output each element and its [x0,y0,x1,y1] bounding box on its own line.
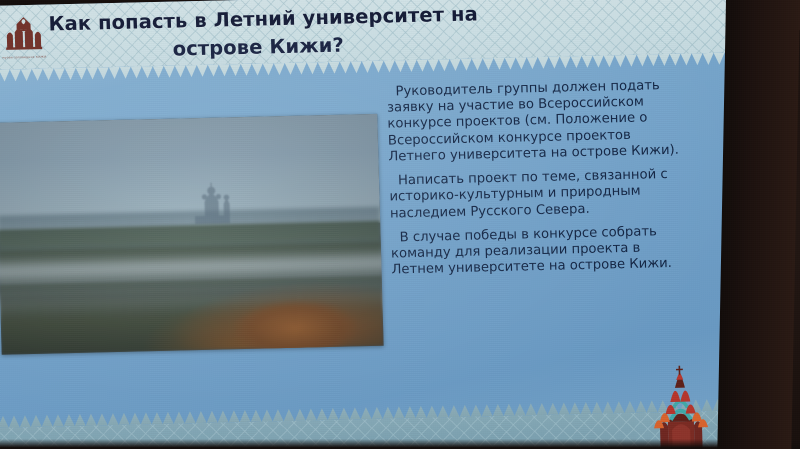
scallop-tooth [74,414,85,426]
scallop-tooth [503,404,514,416]
scallop-tooth [19,415,30,427]
scallop-tooth [351,61,362,73]
scallop-tooth [85,414,96,426]
scallop-tooth [162,412,173,424]
scallop-tooth [371,407,382,419]
scallop-tooth [461,59,472,71]
presentation-slide: музей-заповедник КИЖИ Как попасть в Летн… [0,0,747,449]
scallop-tooth [415,406,426,418]
scallop-tooth [230,64,241,76]
scallop-tooth [294,409,305,421]
scallop-tooth [637,54,648,66]
scallop-tooth [76,68,87,80]
scallop-tooth [164,66,175,78]
scallop-tooth [439,59,450,71]
scallop-tooth [228,410,239,422]
kizhi-misty-landscape-photo [0,114,384,355]
scallop-tooth [208,65,219,77]
scallop-tooth [261,409,272,421]
scallop-tooth [274,63,285,75]
scallop-tooth [681,53,692,65]
scallop-tooth [195,411,206,423]
scallop-tooth [483,58,494,70]
scallop-tooth [492,404,503,416]
scallop-tooth [131,66,142,78]
scallop-tooth [118,413,129,425]
scallop-tooth [373,61,384,73]
scallop-tooth [217,410,228,422]
scallop-tooth [360,407,371,419]
scallop-tooth [318,62,329,74]
scallop-tooth [219,64,230,76]
scallop-tooth [450,59,461,71]
scallop-tooth [250,410,261,422]
wall-bottom-shadow [0,439,800,449]
kizhi-museum-logo-icon: музей-заповедник КИЖИ [0,16,47,61]
scallop-tooth [10,69,21,81]
scallop-tooth [437,405,448,417]
scallop-tooth [382,407,393,419]
scallop-tooth [560,56,571,68]
scallop-tooth [0,69,10,81]
scallop-tooth [30,415,41,427]
scallop-tooth [670,54,681,66]
scallop-tooth [417,60,428,72]
body-paragraph-2: Написать проект по теме, связанной с ист… [389,167,690,223]
scallop-tooth [384,60,395,72]
scallop-tooth [129,412,140,424]
scallop-tooth [109,67,120,79]
scallop-tooth [98,67,109,79]
scallop-tooth [8,415,19,427]
scallop-tooth [252,63,263,75]
scallop-tooth [558,402,569,414]
scallop-tooth [21,69,32,81]
scallop-tooth [615,55,626,67]
scallop-tooth [406,60,417,72]
scallop-tooth [626,55,637,67]
scallop-tooth [87,67,98,79]
scallop-tooth [602,401,613,413]
projected-slide-photo: музей-заповедник КИЖИ Как попасть в Летн… [0,0,800,449]
scallop-tooth [43,68,54,80]
photo-haze-overlay [0,114,384,355]
scallop-tooth [140,412,151,424]
scallop-tooth [448,405,459,417]
scallop-tooth [327,408,338,420]
scallop-tooth [340,61,351,73]
scallop-tooth [338,408,349,420]
scallop-tooth [393,406,404,418]
scallop-tooth [32,69,43,81]
scallop-tooth [153,66,164,78]
scallop-tooth [481,404,492,416]
scallop-tooth [426,405,437,417]
scallop-tooth [206,411,217,423]
kizhi-church-ornament-icon [636,363,725,449]
scallop-tooth [547,403,558,415]
slide-body-text: Руководитель группы должен подать заявку… [386,78,691,280]
scallop-tooth [624,401,635,413]
scallop-tooth [151,412,162,424]
scallop-tooth [305,408,316,420]
scallop-tooth [494,58,505,70]
scallop-tooth [316,408,327,420]
scallop-tooth [428,59,439,71]
scallop-tooth [96,413,107,425]
scallop-tooth [659,54,670,66]
scallop-tooth [525,403,536,415]
scallop-tooth [536,403,547,415]
scallop-tooth [604,55,615,67]
scallop-tooth [714,53,725,65]
scallop-tooth [648,54,659,66]
scallop-tooth [472,58,483,70]
scallop-tooth [362,61,373,73]
scallop-tooth [197,65,208,77]
scallop-tooth [703,53,714,65]
scallop-tooth [582,56,593,68]
scallop-tooth [516,57,527,69]
scallop-tooth [395,60,406,72]
scallop-tooth [283,409,294,421]
scallop-tooth [404,406,415,418]
scallop-tooth [527,57,538,69]
scallop-tooth [571,56,582,68]
scallop-tooth [272,409,283,421]
scallop-tooth [569,402,580,414]
scallop-tooth [239,410,250,422]
scallop-tooth [107,413,118,425]
scallop-tooth [63,414,74,426]
scallop-tooth [142,66,153,78]
scallop-tooth [186,65,197,77]
scallop-tooth [505,58,516,70]
scallop-tooth [580,402,591,414]
scallop-tooth [241,64,252,76]
scallop-tooth [538,57,549,69]
scallop-tooth [173,411,184,423]
scallop-tooth [514,403,525,415]
scallop-tooth [65,68,76,80]
scallop-tooth [692,53,703,65]
scallop-tooth [349,407,360,419]
scallop-tooth [52,414,63,426]
scallop-tooth [549,56,560,68]
body-paragraph-3: В случае победы в конкурсе собрать коман… [390,223,691,279]
scallop-tooth [54,68,65,80]
scallop-tooth [184,411,195,423]
scallop-tooth [296,62,307,74]
scallop-tooth [0,416,9,428]
wall-right-strip [717,0,800,449]
scallop-tooth [470,404,481,416]
body-paragraph-1: Руководитель группы должен подать заявку… [386,78,688,166]
scallop-tooth [41,415,52,427]
scallop-tooth [591,402,602,414]
scallop-tooth [120,67,131,79]
scallop-tooth [329,62,340,74]
scallop-tooth [285,63,296,75]
scallop-tooth [307,62,318,74]
scallop-tooth [613,401,624,413]
scallop-tooth [175,65,186,77]
scallop-tooth [263,63,274,75]
scallop-tooth [593,55,604,67]
scallop-tooth [459,405,470,417]
